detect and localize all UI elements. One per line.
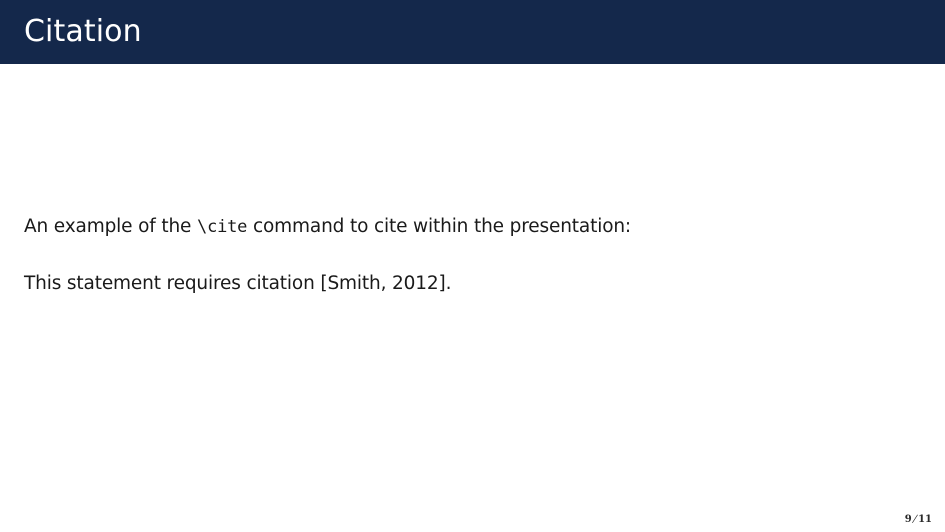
body-text-segment-1: An example of the [24, 216, 197, 237]
slide-header-bar: Citation [0, 0, 945, 64]
page-title: Citation [24, 17, 142, 47]
slide-body-text: An example of the \cite command to cite … [24, 215, 904, 297]
page-number-indicator: 9 / 11 [905, 514, 932, 525]
slide-footer: 9 / 11 [0, 498, 945, 532]
presentation-slide: Citation An example of the \cite command… [0, 0, 945, 532]
page-number-total: 11 [918, 514, 932, 525]
body-paragraph-1: An example of the \cite command to cite … [24, 215, 904, 239]
slide-content-area: An example of the \cite command to cite … [0, 64, 945, 532]
body-text-segment-2: command to cite within the presentation: [247, 216, 631, 237]
body-paragraph-2: This statement requires citation [Smith,… [24, 272, 904, 296]
cite-command-code: \cite [197, 217, 247, 237]
